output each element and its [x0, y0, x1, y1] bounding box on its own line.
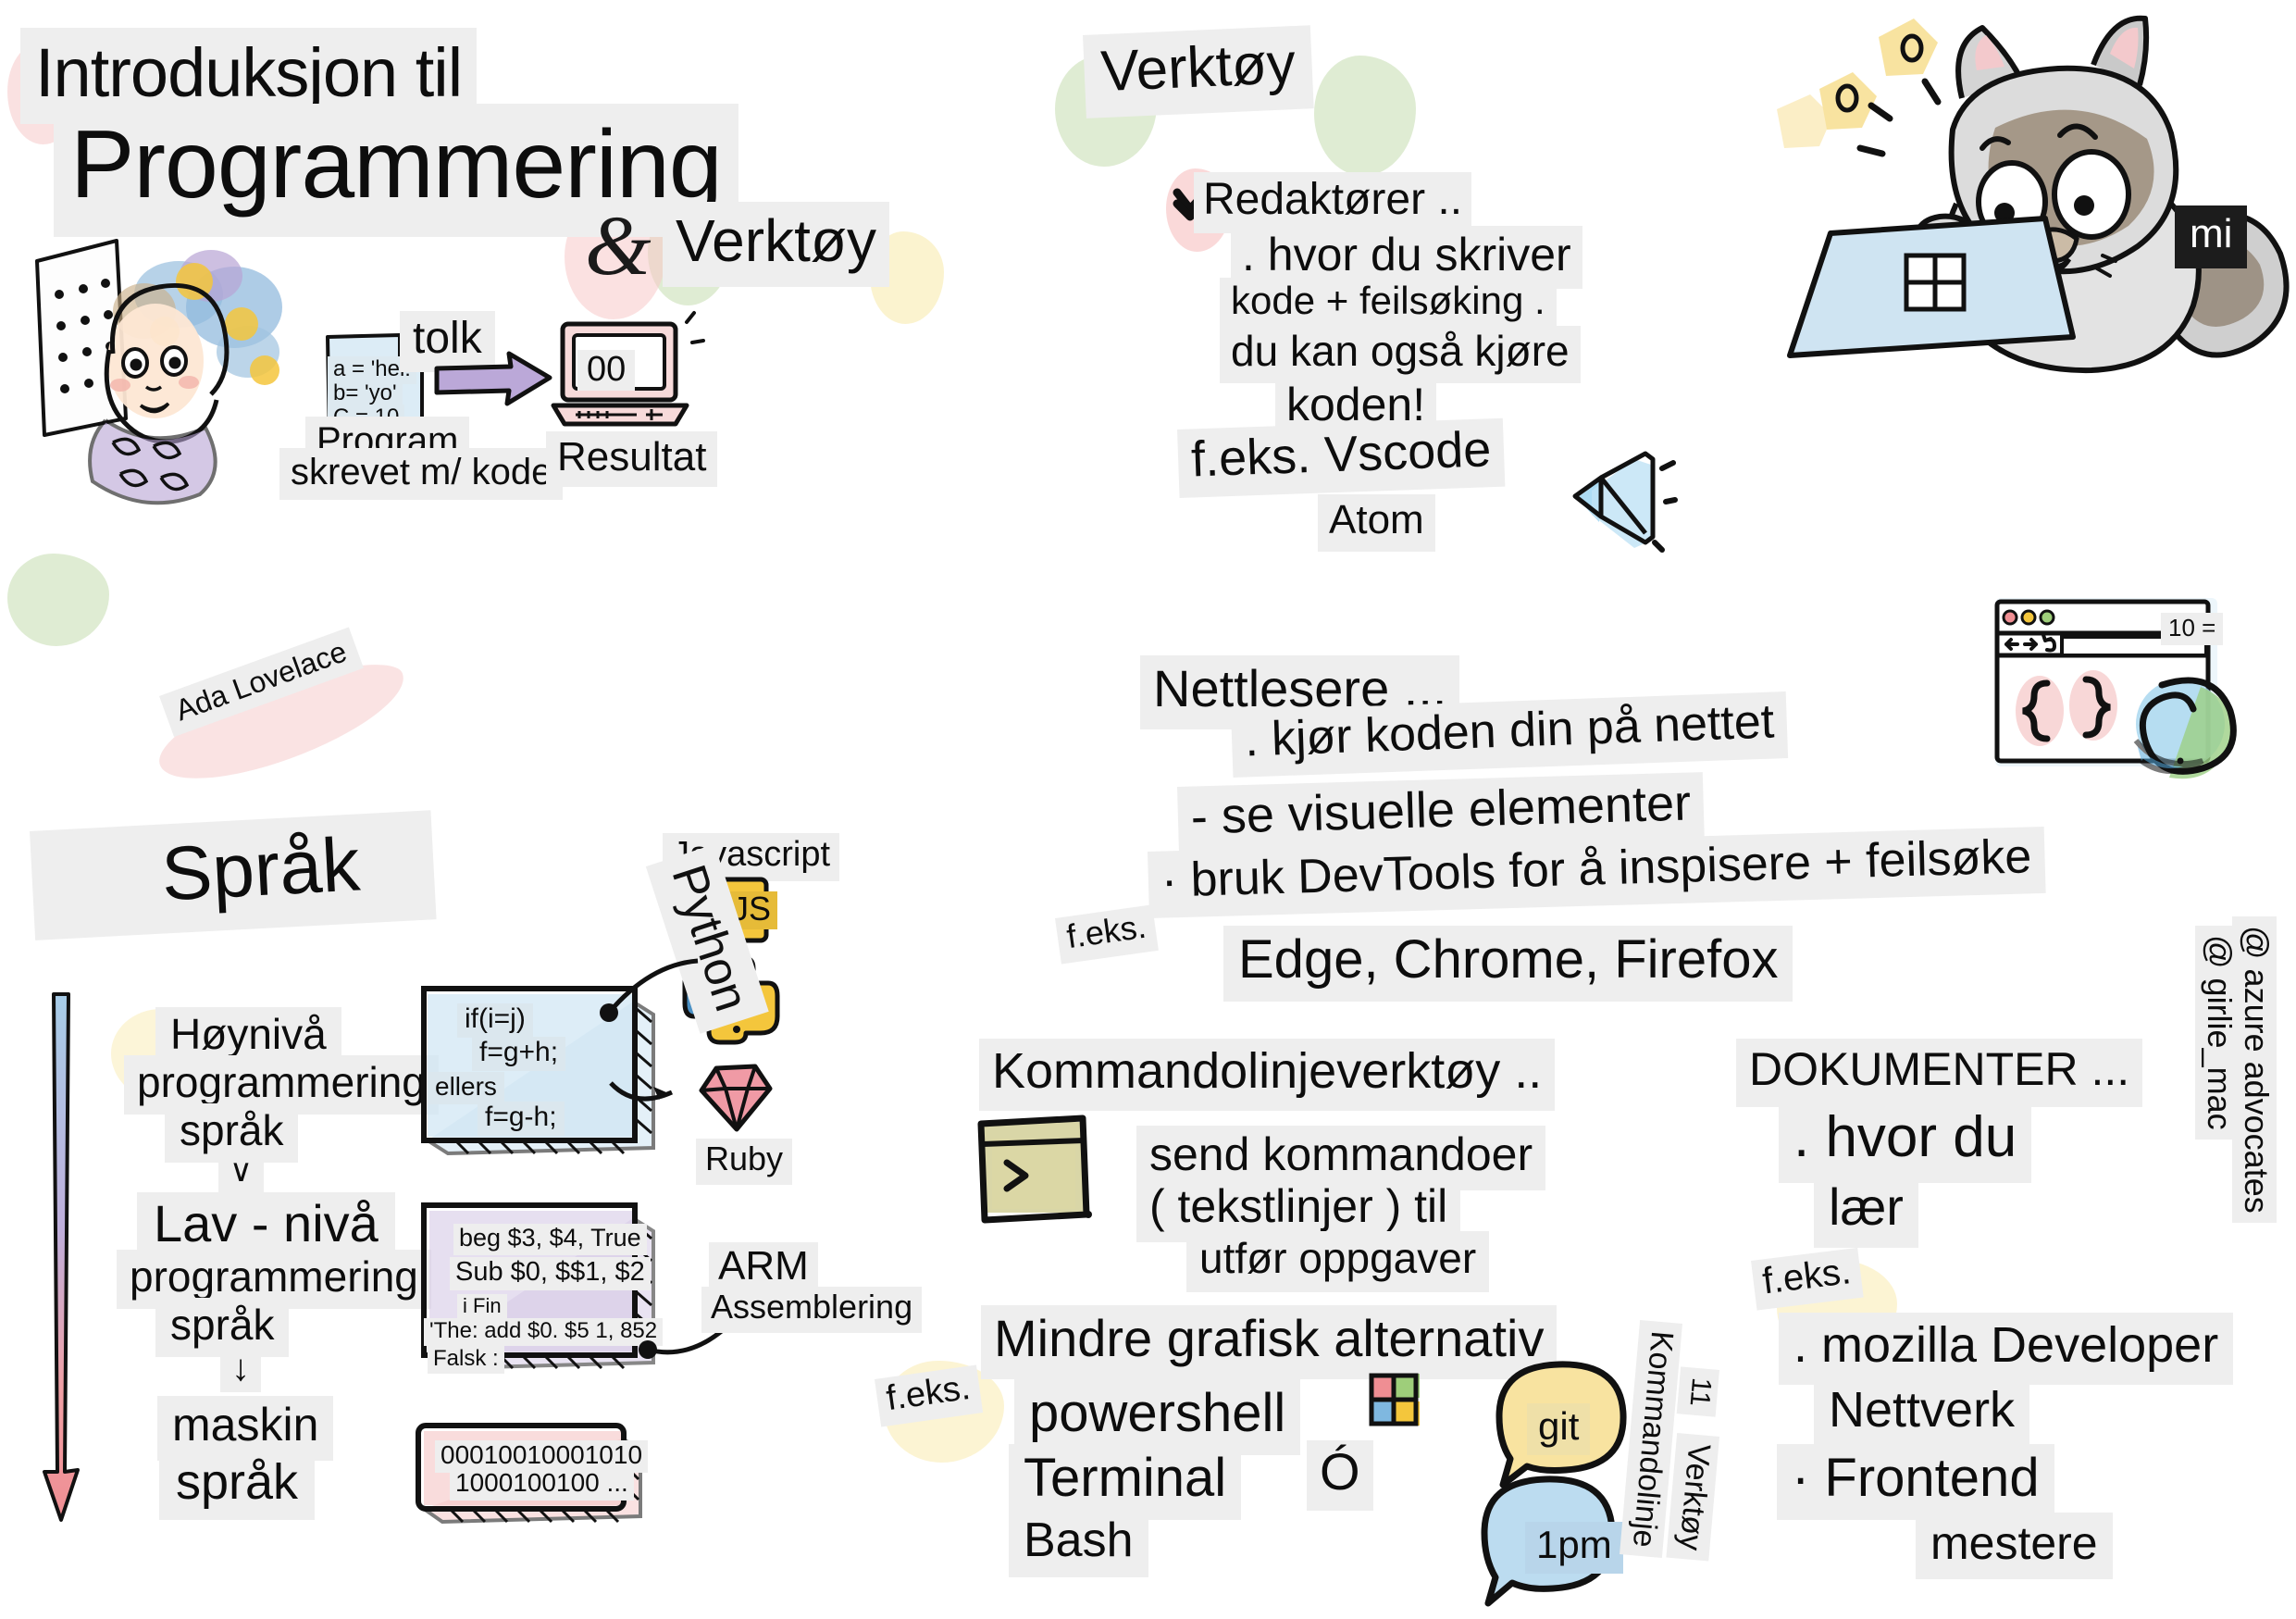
code-machine-line-2: 1000100100 ...: [450, 1468, 634, 1501]
bubble-git-text: git: [1527, 1403, 1590, 1455]
level-machine-line2: språk: [159, 1451, 315, 1520]
code-assembly-line-3: i Fin: [457, 1294, 507, 1320]
cli-heading: Kommandolinjeverktøy ..: [979, 1039, 1555, 1111]
vscode-icon: [1564, 450, 1675, 552]
language-connector-lines: [537, 953, 759, 1194]
level-arrow-2: ↓: [220, 1348, 261, 1392]
bubble-1pm-text: 1pm: [1525, 1522, 1623, 1574]
editors-example-vscode: f.eks. Vscode: [1177, 418, 1506, 498]
editors-line-2: kode + feilsøking .: [1220, 278, 1557, 330]
browser-window-illustration: [1980, 583, 2295, 787]
docs-example-1: . mozilla Developer: [1779, 1313, 2233, 1385]
sprak-heading: Språk: [30, 810, 437, 940]
docs-example-4: mestere: [1916, 1513, 2113, 1579]
editors-line-3: du kan også kjøre: [1220, 326, 1581, 383]
arm-label-line2: Assemblering: [701, 1287, 922, 1333]
code-assembly-line-2: Sub $0, $$1, $2: [450, 1257, 651, 1290]
ampersand-symbol: &: [585, 196, 652, 294]
windows-icon: [1362, 1368, 1427, 1433]
tolk-arrow-icon: [433, 350, 553, 409]
blob-green-sprak: [7, 554, 109, 646]
code-assembly-line-4: 'The: add $0. $5 1, 852: [424, 1318, 663, 1346]
cli-example-bash: Bash: [1009, 1509, 1148, 1577]
program-label-line2: skrevet m/ kode: [279, 448, 563, 500]
docs-line-2: lær: [1814, 1174, 1918, 1248]
cli-line-3: utfør oppgaver: [1186, 1231, 1489, 1292]
editors-example-atom: Atom: [1318, 494, 1435, 552]
page-title-line3: Verktøy: [663, 202, 889, 287]
abstraction-gradient-arrow: [37, 990, 93, 1546]
raccoon-laptop-illustration: [1777, 209, 2082, 376]
code-highlevel-line-1: if(i=j): [457, 1003, 533, 1038]
verktoy-heading: Verktøy: [1083, 25, 1314, 118]
watermark-badge: mi: [2175, 205, 2247, 268]
terminal-icon: [972, 1111, 1101, 1231]
cli-side-label-number: 11: [1677, 1366, 1719, 1417]
cli-side-label-verktoy: Verktøy: [1666, 1433, 1719, 1562]
code-assembly-line-1: beg $3, $4, True: [453, 1224, 647, 1255]
docs-line-1: . hvor du: [1779, 1102, 2031, 1183]
docs-example-2: Nettverk: [1814, 1377, 2029, 1450]
result-screen-text: 00: [577, 350, 635, 391]
blob-green-verktoy2: [1314, 56, 1416, 176]
level-arrow-1: ∨: [218, 1153, 264, 1192]
credits-line-2: @ girlie_mac: [2195, 926, 2240, 1140]
cli-terminal-os-icon: Ó: [1307, 1440, 1373, 1511]
code-assembly-line-5: Falsk :: [428, 1346, 504, 1374]
editors-heading: Redaktører ..: [1194, 172, 1471, 233]
code-highlevel-line-3: ellers: [428, 1072, 504, 1104]
ada-lovelace-illustration: [17, 222, 322, 500]
docs-heading: DOKUMENTER ...: [1736, 1039, 2142, 1107]
browsers-examples: Edge, Chrome, Firefox: [1223, 926, 1793, 1002]
git-speech-bubbles-illustration: [1440, 1359, 1653, 1618]
sketchnote-canvas: Introduksjon til Programmering & Verktøy: [0, 0, 2296, 1619]
docs-example-3: · Frontend: [1777, 1444, 2054, 1520]
browser-url-badge: 10 =: [2161, 613, 2223, 645]
browsers-feks-label: f.eks.: [1055, 904, 1159, 964]
result-label: Resultat: [546, 431, 717, 487]
